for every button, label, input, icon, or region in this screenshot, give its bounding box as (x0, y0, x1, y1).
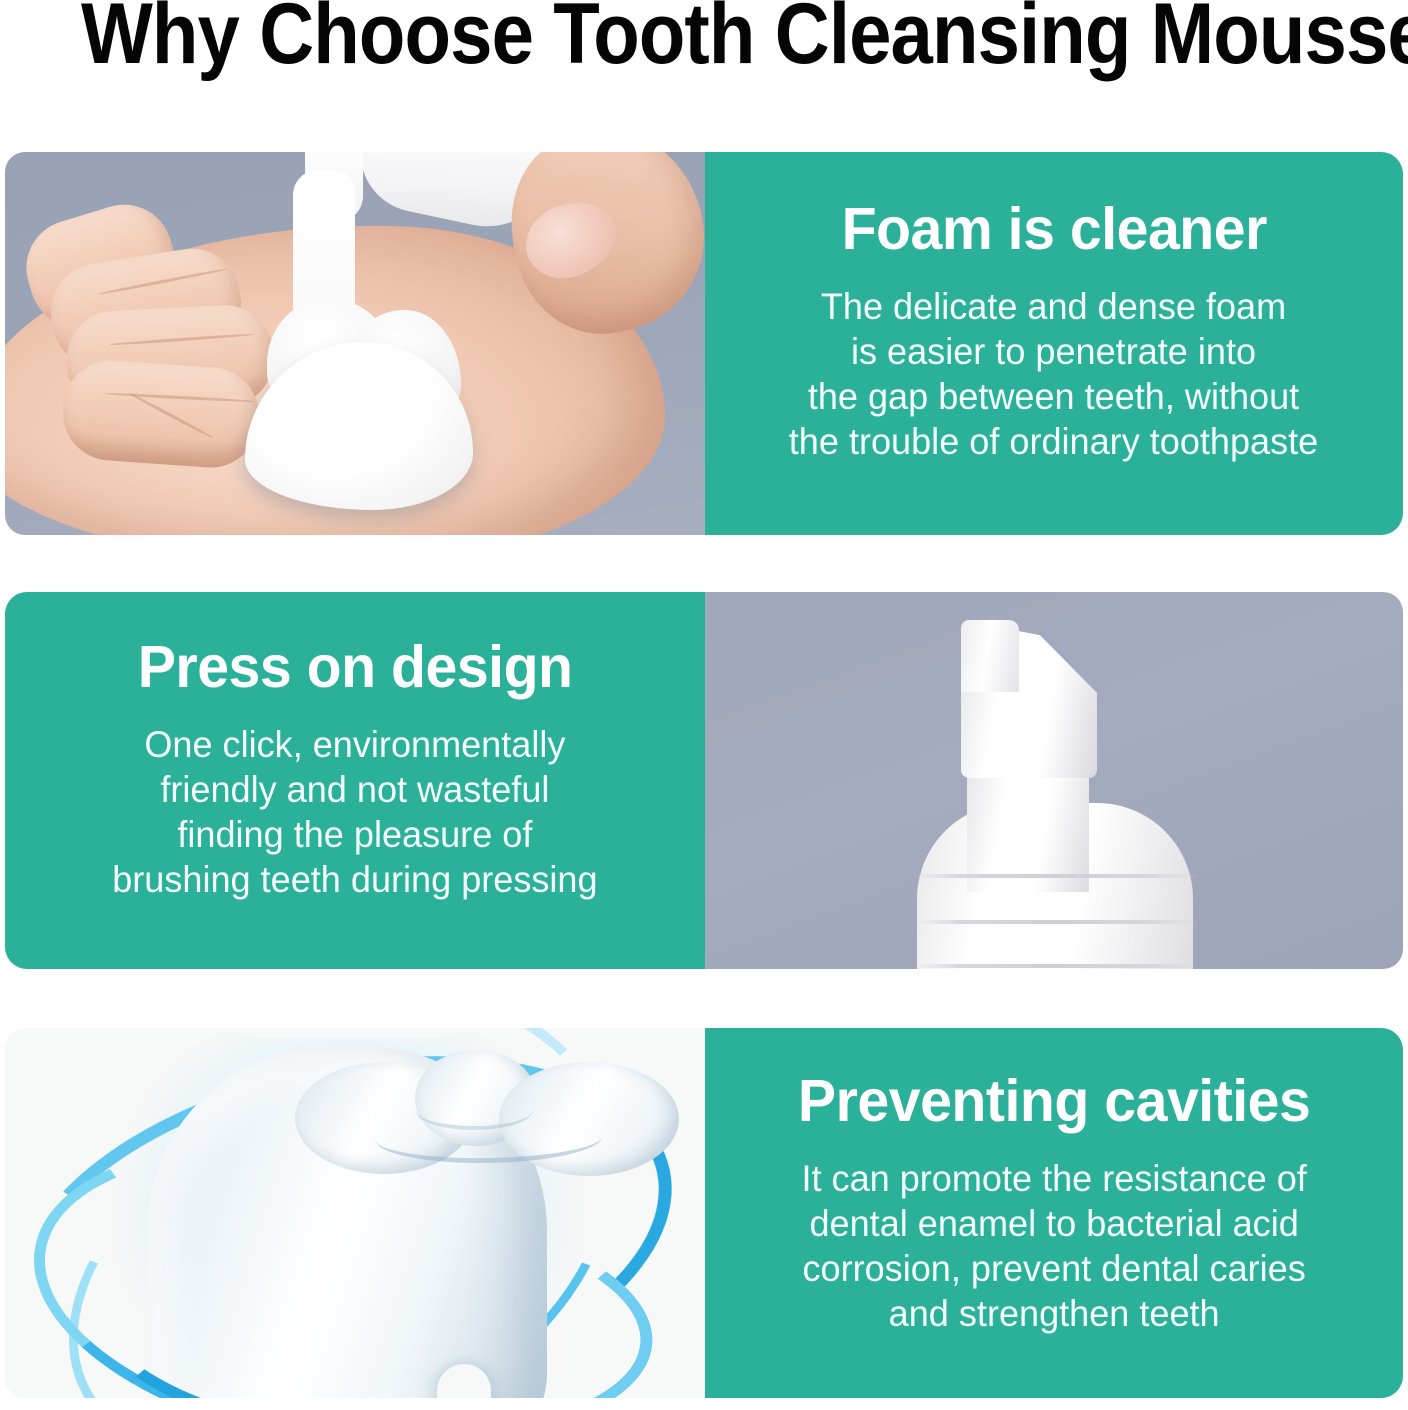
pump-spout (961, 620, 1019, 692)
page-title: Why Choose Tooth Cleansing Mousse (81, 0, 1327, 80)
bottle-ring-3 (915, 964, 1197, 968)
photo-pump-dispenser (705, 592, 1403, 969)
finger-4 (60, 357, 262, 470)
pump-neck (967, 762, 1089, 892)
feature-heading-preventing-cavities: Preventing cavities (798, 1068, 1310, 1134)
feature-image-foam-in-palm (5, 152, 705, 535)
body-line: and strengthen teeth (801, 1291, 1306, 1336)
tooth-groove-secondary (415, 1090, 533, 1130)
feature-image-pump-nozzle (705, 592, 1403, 969)
body-line: corrosion, prevent dental caries (801, 1246, 1306, 1291)
body-line: One click, environmentally (112, 722, 597, 767)
body-line: dental enamel to bacterial acid (801, 1201, 1306, 1246)
photo-tooth-illustration (5, 1028, 705, 1398)
body-line: the trouble of ordinary toothpaste (789, 419, 1318, 464)
photo-foam-in-palm (5, 152, 705, 535)
feature-text-press-on-design: Press on design One click, environmental… (5, 592, 705, 969)
feature-body-foam-is-cleaner: The delicate and dense foam is easier to… (776, 284, 1333, 464)
feature-heading-foam-is-cleaner: Foam is cleaner (841, 196, 1266, 262)
feature-text-foam-is-cleaner: Foam is cleaner The delicate and dense f… (705, 152, 1403, 535)
bottle-ring-1 (915, 874, 1197, 878)
body-line: The delicate and dense foam (789, 284, 1318, 329)
body-line: is easier to penetrate into (789, 329, 1318, 374)
body-line: finding the pleasure of (112, 812, 597, 857)
feature-image-tooth (5, 1028, 705, 1398)
body-line: the gap between teeth, without (789, 374, 1318, 419)
body-line: brushing teeth during pressing (112, 857, 597, 902)
feature-row-press-on-design: Press on design One click, environmental… (5, 592, 1403, 969)
feature-row-foam-is-cleaner: Foam is cleaner The delicate and dense f… (5, 152, 1403, 535)
feature-body-preventing-cavities: It can promote the resistance of dental … (788, 1156, 1321, 1336)
feature-text-preventing-cavities: Preventing cavities It can promote the r… (705, 1028, 1403, 1398)
feature-heading-press-on-design: Press on design (138, 634, 573, 700)
body-line: It can promote the resistance of (801, 1156, 1306, 1201)
bottle-ring-2 (915, 920, 1197, 924)
body-line: friendly and not wasteful (112, 767, 597, 812)
feature-body-press-on-design: One click, environmentally friendly and … (99, 722, 612, 902)
feature-row-preventing-cavities: Preventing cavities It can promote the r… (5, 1028, 1403, 1398)
